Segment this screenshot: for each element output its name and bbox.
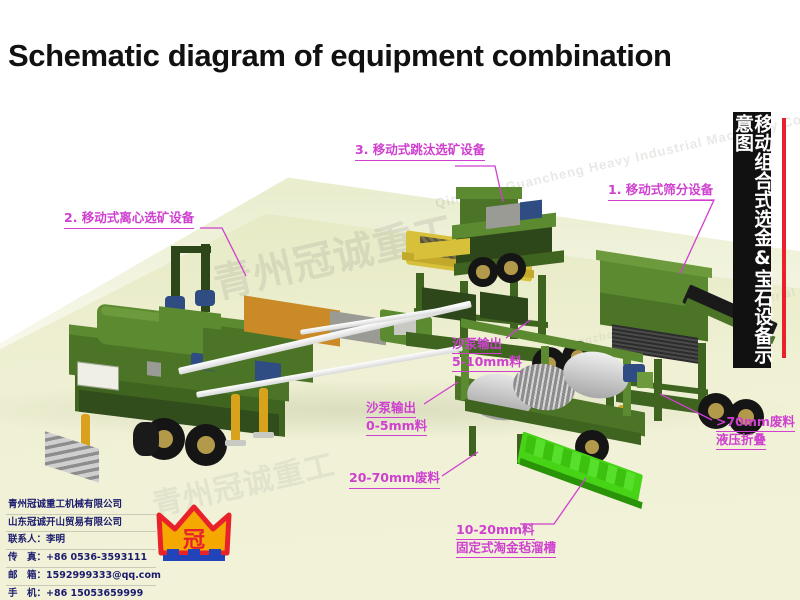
leader-line-3 <box>455 160 525 230</box>
jack-foot-2 <box>225 440 246 446</box>
company-name-2: 山东冠诚开山贸易有限公司 <box>6 515 156 533</box>
leader-line-2 <box>200 224 280 304</box>
tire-inner-1 <box>133 422 159 456</box>
logo-base-block-2 <box>188 549 200 557</box>
company-contact: 联系人：李明 <box>6 532 156 550</box>
trommel-gearbox <box>637 372 653 388</box>
label-size-0-5-text: 0-5mm料 <box>366 418 427 436</box>
company-mobile: 手 机：+86 15053659999 <box>6 586 156 600</box>
label-pump-out-text-a: 沙泵输出 <box>452 336 502 354</box>
tire-axle-2 <box>185 424 227 466</box>
page-title: Schematic diagram of equipment combinati… <box>8 38 672 74</box>
rear-tire-1 <box>468 257 498 287</box>
jack-foot-3 <box>253 432 274 438</box>
label-pump-out-text-b: 沙泵输出 <box>366 400 416 418</box>
gearbox-1 <box>147 361 161 377</box>
rear-tire-2 <box>496 253 526 283</box>
logo-base-block-3 <box>209 549 221 557</box>
leader-line-pump-5-10 <box>506 320 566 360</box>
company-email: 邮 箱：1592999333@qq.com <box>6 568 156 586</box>
label-waste-20-70mm: 20-70mm废料 <box>349 470 440 489</box>
crown-logo: 冠 <box>155 503 233 565</box>
side-panel-white <box>77 361 119 390</box>
label-2-centrifugal: 2. 移动式离心选矿设备 <box>64 210 194 229</box>
leader-line-sluice <box>520 478 610 532</box>
company-name-1: 青州冠诚重工机械有限公司 <box>6 497 156 515</box>
schematic-canvas: 青州冠诚重工 Qingzhou Guancheng Heavy Industri… <box>0 0 800 600</box>
label-pump-0-5mm: 沙泵输出 0-5mm料 <box>366 400 427 436</box>
leader-line-waste-20-70 <box>442 452 522 492</box>
label-3-jig: 3. 移动式跳汰选矿设备 <box>355 142 485 161</box>
leader-line-1 <box>690 196 770 286</box>
label-hydraulic-fold-text: 液压折叠 <box>716 432 766 450</box>
banner-accent-line <box>782 118 786 358</box>
label-fixed-sluice-text: 固定式淘金毡溜槽 <box>456 540 556 558</box>
label-waste-20-70-text: 20-70mm废料 <box>349 470 440 489</box>
label-3-text: 3. 移动式跳汰选矿设备 <box>355 142 485 161</box>
leader-line-waste-70 <box>660 394 730 434</box>
hydraulic-jack-2 <box>231 394 240 442</box>
company-info-box: 青州冠诚重工机械有限公司 山东冠诚开山贸易有限公司 联系人：李明 传 真：+86… <box>6 497 156 600</box>
hydraulic-jack-3 <box>259 388 268 434</box>
leader-line-pump-0-5 <box>424 382 494 428</box>
company-fax: 传 真：+86 0536-3593111 <box>6 550 156 568</box>
label-2-text: 2. 移动式离心选矿设备 <box>64 210 194 229</box>
logo-base-block-1 <box>167 549 179 557</box>
